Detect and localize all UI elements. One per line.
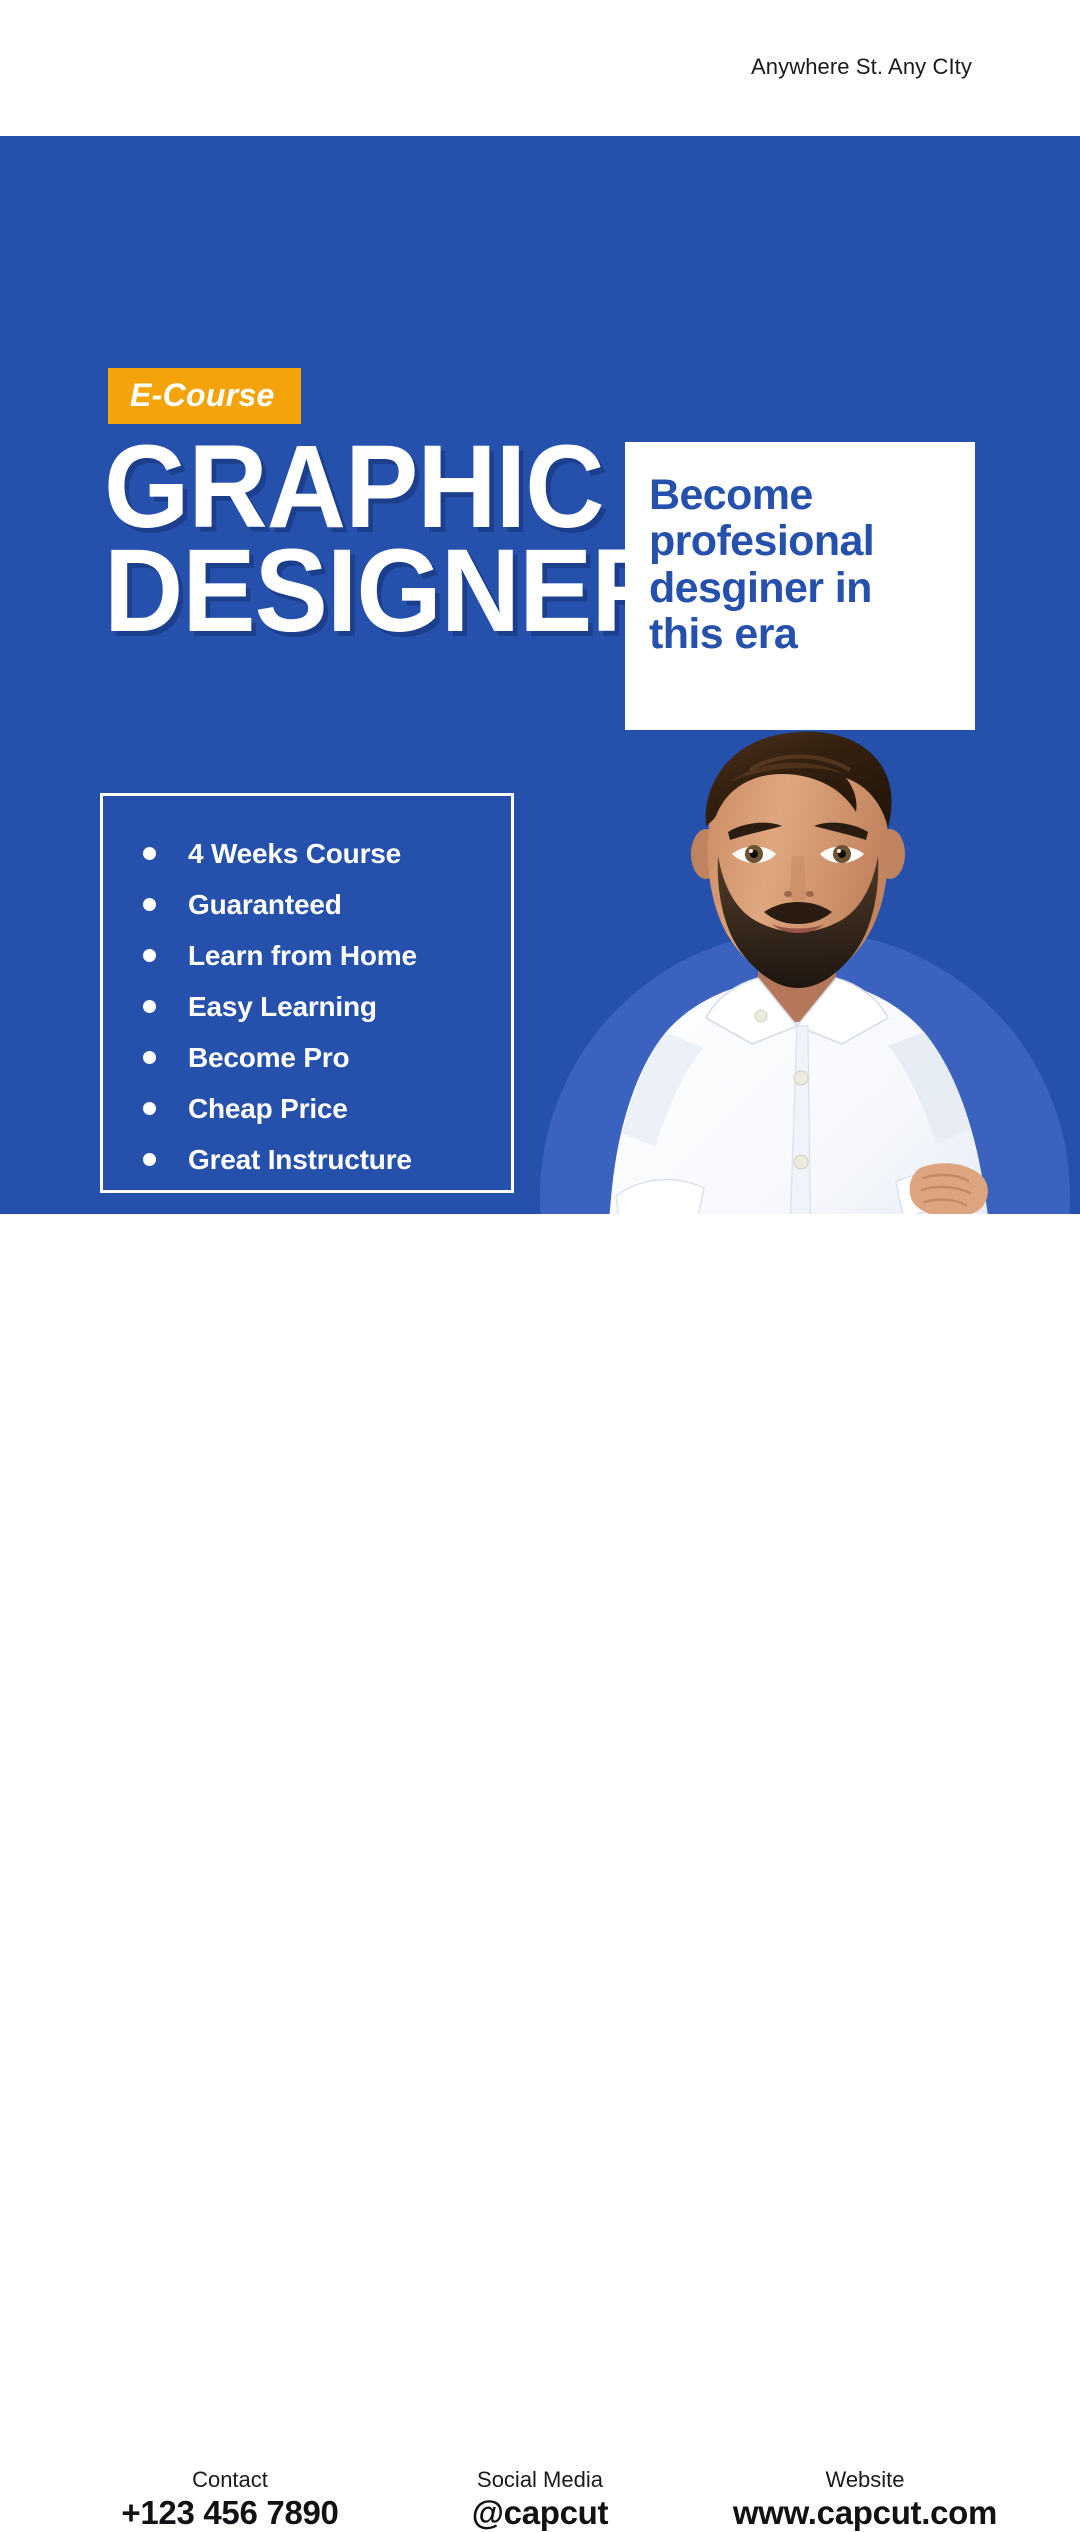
list-item: Learn from Home [143, 930, 511, 981]
list-item: Guaranteed [143, 879, 511, 930]
list-item: Easy Learning [143, 981, 511, 1032]
bullet-dot-icon [143, 1051, 156, 1064]
list-item: Great Instructure [143, 1134, 511, 1185]
collar-button [755, 1010, 767, 1022]
list-item-label: Become Pro [188, 1042, 349, 1074]
list-item-label: Great Instructure [188, 1144, 412, 1176]
bullet-dot-icon [143, 847, 156, 860]
list-item-label: 4 Weeks Course [188, 838, 401, 870]
list-item-label: Easy Learning [188, 991, 377, 1023]
footer-label: Contact [45, 2466, 415, 2494]
footer-value: +123 456 7890 [45, 2494, 415, 2532]
nostril-right [806, 891, 814, 897]
ecourse-badge-label: E-Course [130, 379, 275, 411]
footer-column-social: Social Media @capcut [370, 2466, 710, 2532]
footer-value: @capcut [370, 2494, 710, 2532]
footer-column-website: Website www.capcut.com [690, 2466, 1040, 2532]
bullet-dot-icon [143, 1102, 156, 1115]
subheadline-text: Become profesional desginer in this era [649, 472, 953, 658]
list-item: Become Pro [143, 1032, 511, 1083]
bullet-dot-icon [143, 1000, 156, 1013]
list-item-label: Learn from Home [188, 940, 417, 972]
shirt-button [794, 1155, 808, 1169]
footer-value: www.capcut.com [690, 2494, 1040, 2532]
bullet-dot-icon [143, 949, 156, 962]
subheadline-box: Become profesional desginer in this era [625, 442, 975, 730]
bullet-dot-icon [143, 898, 156, 911]
list-item: 4 Weeks Course [143, 828, 511, 879]
list-item-label: Cheap Price [188, 1093, 348, 1125]
footer: Contact +123 456 7890 Social Media @capc… [0, 1214, 1080, 1350]
address-text: Anywhere St. Any CIty [751, 54, 972, 80]
top-bar: Anywhere St. Any CIty [0, 0, 1080, 136]
shirt-button [794, 1071, 808, 1085]
footer-label: Website [690, 2466, 1040, 2494]
list-item: Cheap Price [143, 1083, 511, 1134]
main-blue-panel: E-Course GRAPHIC DESIGNER Become profesi… [0, 136, 1080, 1214]
feature-list-box: 4 Weeks Course Guaranteed Learn from Hom… [100, 793, 514, 1193]
list-item-label: Guaranteed [188, 889, 342, 921]
feature-list: 4 Weeks Course Guaranteed Learn from Hom… [143, 828, 511, 1185]
footer-column-contact: Contact +123 456 7890 [45, 2466, 415, 2532]
instructor-illustration [520, 726, 1080, 1214]
page-title: GRAPHIC DESIGNER [104, 436, 624, 644]
instructor-photo [520, 726, 1080, 1214]
ecourse-badge: E-Course [108, 368, 301, 424]
footer-label: Social Media [370, 2466, 710, 2494]
nostril-left [784, 891, 792, 897]
headline-line-2: DESIGNER [104, 540, 588, 644]
bullet-dot-icon [143, 1153, 156, 1166]
